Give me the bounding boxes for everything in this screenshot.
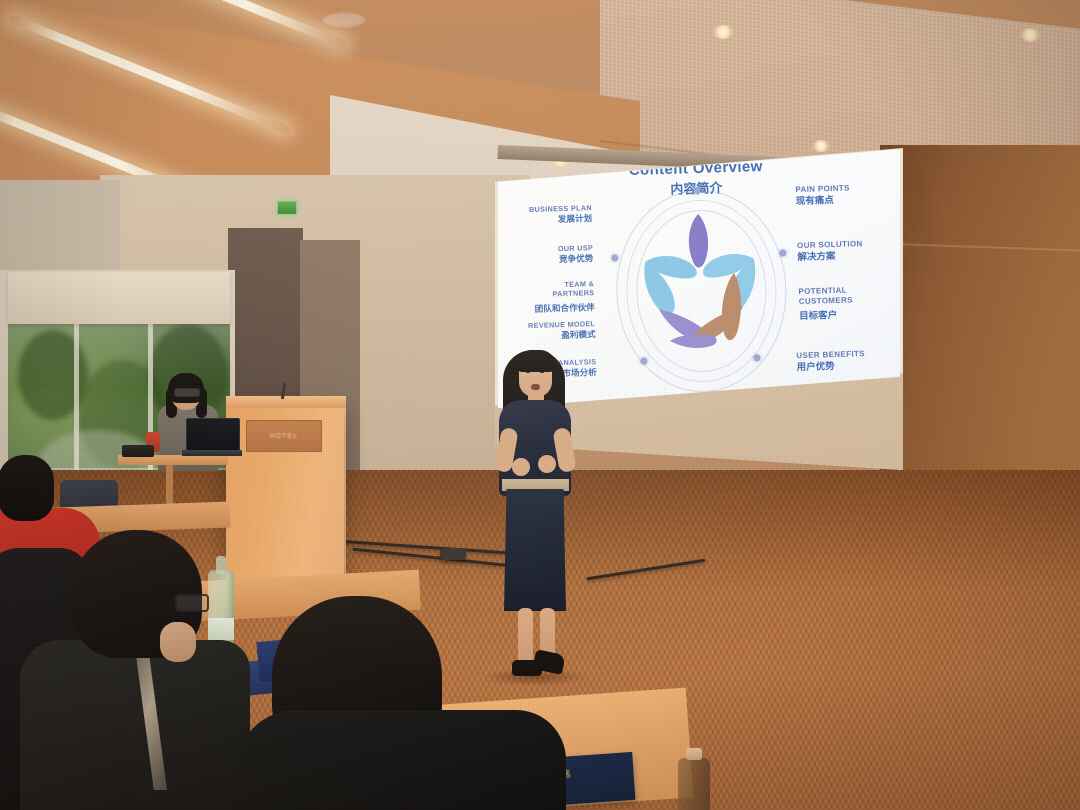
label-cn: 解决方案 <box>797 249 897 264</box>
laptop-keyboard[interactable] <box>182 450 242 456</box>
label-cn: 盈利模式 <box>503 329 595 342</box>
podium-plaque: HOTEL <box>246 420 322 452</box>
label-en: TEAM & PARTNERS <box>552 279 595 298</box>
slide-label-revenue-model: REVENUE MODEL 盈利模式 <box>503 319 596 342</box>
bottle-front <box>678 758 710 810</box>
label-cn: 目标客户 <box>799 308 893 323</box>
presenter-hair-front <box>516 350 556 372</box>
ceiling-speaker <box>322 12 366 28</box>
exit-sign <box>277 201 297 215</box>
bottle-front-cap <box>686 748 702 760</box>
slide-label-team-partners: TEAM & PARTNERS 团队和合作伙伴 <box>504 279 595 315</box>
slide-label-our-usp: OUR USP 竞争优势 <box>509 243 594 266</box>
audience-red-jacket-hair <box>0 455 54 521</box>
slide-label-user-benefits: USER BENEFITS 用户优势 <box>796 348 897 373</box>
laptop-operator-glasses <box>174 388 200 397</box>
window-roller-blind[interactable] <box>8 272 230 324</box>
label-cn: 竞争优势 <box>509 253 593 266</box>
presenter-hand-left <box>512 458 530 476</box>
presenter-skirt <box>504 489 566 611</box>
podium-plaque-text: HOTEL <box>270 433 299 440</box>
label-cn: 发展计划 <box>508 213 592 226</box>
conference-room-photo: Content Overview 内容简介 <box>0 0 1080 810</box>
slide-label-our-solution: OUR SOLUTION 解决方案 <box>797 238 898 263</box>
equipment-case <box>122 445 154 457</box>
slide-header-bar <box>501 167 583 175</box>
diagram-node <box>779 249 786 256</box>
presenter-mouth <box>531 384 540 390</box>
audience-man-body <box>20 640 250 810</box>
star-graphic <box>636 206 765 370</box>
label-cn: 现有痛点 <box>796 193 892 208</box>
slide-label-business-plan: BUSINESS PLAN 发展计划 <box>508 203 593 226</box>
presenter-leg-left <box>518 608 533 666</box>
slide-label-pain-points: PAIN POINTS 现有痛点 <box>795 182 892 207</box>
downlight <box>1020 28 1040 42</box>
label-cn: 团队和合作伙伴 <box>505 302 595 315</box>
label-cn: 用户优势 <box>797 359 897 374</box>
audience-man-hand <box>160 622 196 662</box>
presenter-hand-right <box>538 455 556 473</box>
floor-cable-connector <box>440 548 466 560</box>
diagram-node <box>611 254 618 261</box>
water-bottle-label <box>208 618 234 640</box>
audience-man-glasses <box>175 594 209 612</box>
downlight <box>712 25 734 39</box>
laptop-screen[interactable] <box>186 418 240 454</box>
audience-right-body <box>236 710 566 810</box>
label-en: POTENTIAL CUSTOMERS <box>798 285 859 307</box>
podium-top-surface <box>226 396 346 408</box>
slide-label-potential-customers: POTENTIAL CUSTOMERS 目标客户 <box>798 284 893 322</box>
